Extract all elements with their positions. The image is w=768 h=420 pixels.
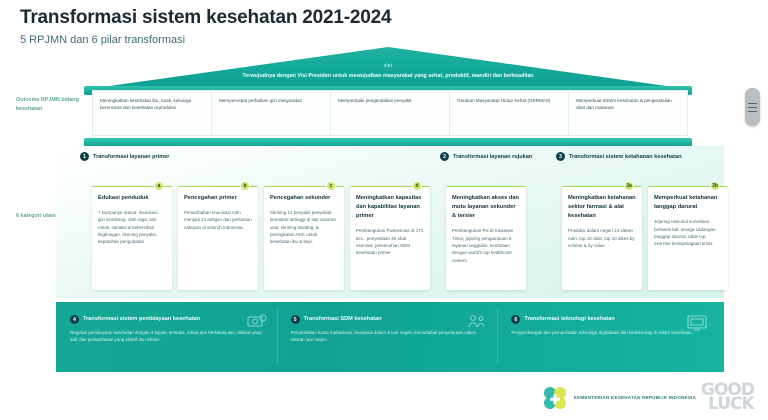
- footer-logo: KEMENTERIAN KESEHATAN REPUBLIK INDONESIA…: [541, 384, 754, 412]
- goodluck-line2: LUCK: [708, 398, 754, 412]
- pillar-card[interactable]: Meningkatkan akses dan mutu layanan seku…: [446, 186, 526, 290]
- handle-line: [748, 107, 757, 108]
- pillar-number-badge: 5: [291, 315, 300, 324]
- bottom-pillar-body: Pengembangan dan pemanfaatan teknologi, …: [511, 329, 710, 336]
- card-title: Memperkuat ketahanan tanggap darurat: [654, 194, 722, 212]
- outcome-cell[interactable]: Mempercepat perbaikan gizi masyarakat: [212, 91, 331, 135]
- handle-line: [748, 111, 757, 112]
- card-body: Penambahan imunisasi rutin menjadi 14 an…: [184, 209, 252, 231]
- pillar-card[interactable]: 3b Memperkuat ketahanan tanggap darurat …: [648, 186, 728, 290]
- goodluck-wordmark: GOOD LUCK: [701, 384, 754, 412]
- outcome-strip: Meningkatkan kesehatan ibu, anak, keluar…: [92, 90, 688, 136]
- card-body: 7 kampanye utama: imunisasi, gizi seimba…: [98, 209, 166, 245]
- bottom-pillar-title: Transformasi sistem pembiayaan kesehatan: [83, 315, 200, 323]
- card-title: Meningkatkan ketahanan sektor farmasi & …: [568, 194, 636, 221]
- pillar-group-title: Transformasi sistem ketahanan kesehatan: [569, 152, 682, 161]
- pillar-number-badge: 6: [511, 315, 520, 324]
- card-body: Pembangunan RS di Kawasan Timur, jejarin…: [452, 227, 520, 263]
- drag-handle[interactable]: [745, 88, 760, 126]
- pillar-number-badge: 3: [556, 152, 565, 161]
- infographic-stage: Transformasi sistem kesehatan 2021-2024 …: [0, 0, 768, 420]
- card-body: Skrining 14 penyakit penyebab kematian t…: [270, 209, 338, 245]
- pillar-card[interactable]: b Pencegahan primer Penambahan imunisasi…: [178, 186, 258, 290]
- bottom-pillar-body: Penambahan kuota mahasiswa, beasiswa dal…: [291, 329, 490, 343]
- card-body: Jejaring nasional surveilans berbasis la…: [654, 218, 722, 247]
- bottom-pillar-head: 6 Transformasi teknologi kesehatan: [511, 315, 710, 324]
- pillar-card[interactable]: a Edukasi penduduk 7 kampanye utama: imu…: [92, 186, 172, 290]
- pillar-card[interactable]: c Pencegahan sekunder Skrining 14 penyak…: [264, 186, 344, 290]
- pillar-number-badge: 1: [80, 152, 89, 161]
- card-row-referral: Meningkatkan akses dan mutu layanan seku…: [446, 186, 526, 290]
- card-badge: d: [412, 181, 422, 191]
- outcome-side-label: Outcome RPJMN bidang kesehatan: [16, 96, 88, 114]
- money-icon: [247, 314, 267, 335]
- pillar-group-header-3[interactable]: 3 Transformasi sistem ketahanan kesehata…: [556, 152, 731, 161]
- card-row-primary: a Edukasi penduduk 7 kampanye utama: imu…: [92, 186, 430, 290]
- outcome-cell[interactable]: Meningkatkan kesehatan ibu, anak, keluar…: [93, 91, 212, 135]
- page-header: Transformasi sistem kesehatan 2021-2024 …: [0, 0, 768, 52]
- card-title: Pencegahan primer: [184, 194, 252, 203]
- card-body: Produksi dalam negeri 14 vaksin rutin, t…: [568, 227, 636, 249]
- pillar-group-title: Transformasi layanan rujukan: [453, 152, 532, 161]
- card-badge: 3b: [710, 181, 720, 191]
- pillar-number-badge: 4: [70, 315, 79, 324]
- people-icon: [467, 314, 487, 335]
- card-body: Pembangunan Puskesmas di 171 kec., penye…: [356, 227, 424, 256]
- monitor-icon: [686, 314, 708, 337]
- bottom-pillar-card[interactable]: 6 Transformasi teknologi kesehatan Penge…: [503, 309, 718, 365]
- ministry-name: KEMENTERIAN KESEHATAN REPUBLIK INDONESIA: [574, 395, 696, 402]
- card-badge: 3a: [624, 181, 634, 191]
- roof-pediment: [88, 47, 688, 89]
- page-title: Transformasi sistem kesehatan 2021-2024: [20, 7, 768, 29]
- card-row-resilience: 3a Meningkatkan ketahanan sektor farmasi…: [562, 186, 728, 290]
- pillar-group-header-1[interactable]: 1 Transformasi layanan primer: [80, 152, 280, 161]
- card-title: Edukasi penduduk: [98, 194, 166, 203]
- outcome-cell[interactable]: Memperbaiki pengendalian penyakit: [331, 91, 450, 135]
- pillar-number-badge: 2: [440, 152, 449, 161]
- card-title: Meningkatkan kapasitas dan kapabilitas l…: [356, 194, 424, 221]
- page-subtitle: 5 RPJMN dan 6 pilar transformasi: [20, 34, 768, 46]
- bottom-pillar-head: 4 Transformasi sistem pembiayaan kesehat…: [70, 315, 269, 324]
- pillar-card[interactable]: 3a Meningkatkan ketahanan sektor farmasi…: [562, 186, 642, 290]
- outcome-cell[interactable]: Gerakan Masyarakat Hidup Sehat (GERMAS): [450, 91, 569, 135]
- card-title: Meningkatkan akses dan mutu layanan seku…: [452, 194, 520, 221]
- bottom-pillars-strip: 4 Transformasi sistem pembiayaan kesehat…: [56, 302, 724, 372]
- bottom-pillar-body: Regulasi pembiayaan kesehatan dengan 3 t…: [70, 329, 269, 343]
- bottom-pillar-card[interactable]: 5 Transformasi SDM kesehatan Penambahan …: [283, 309, 499, 365]
- card-badge: a: [154, 181, 164, 191]
- bottom-pillar-head: 5 Transformasi SDM kesehatan: [291, 315, 490, 324]
- card-badge: c: [326, 181, 336, 191]
- pillar-group-header-2[interactable]: 2 Transformasi layanan rujukan: [440, 152, 550, 161]
- pillar-group-title: Transformasi layanan primer: [93, 152, 169, 161]
- bottom-pillar-card[interactable]: 4 Transformasi sistem pembiayaan kesehat…: [62, 309, 278, 365]
- bottom-pillar-title: Transformasi teknologi kesehatan: [524, 315, 614, 323]
- outcome-cell[interactable]: Memperkuat sistem kesehatan & pengendali…: [569, 91, 687, 135]
- card-badge: b: [240, 181, 250, 191]
- bottom-pillar-title: Transformasi SDM kesehatan: [304, 315, 382, 323]
- card-title: Pencegahan sekunder: [270, 194, 338, 203]
- handle-line: [748, 103, 757, 104]
- pillar-card[interactable]: d Meningkatkan kapasitas dan kapabilitas…: [350, 186, 430, 290]
- kemenkes-logo-icon: [541, 384, 569, 412]
